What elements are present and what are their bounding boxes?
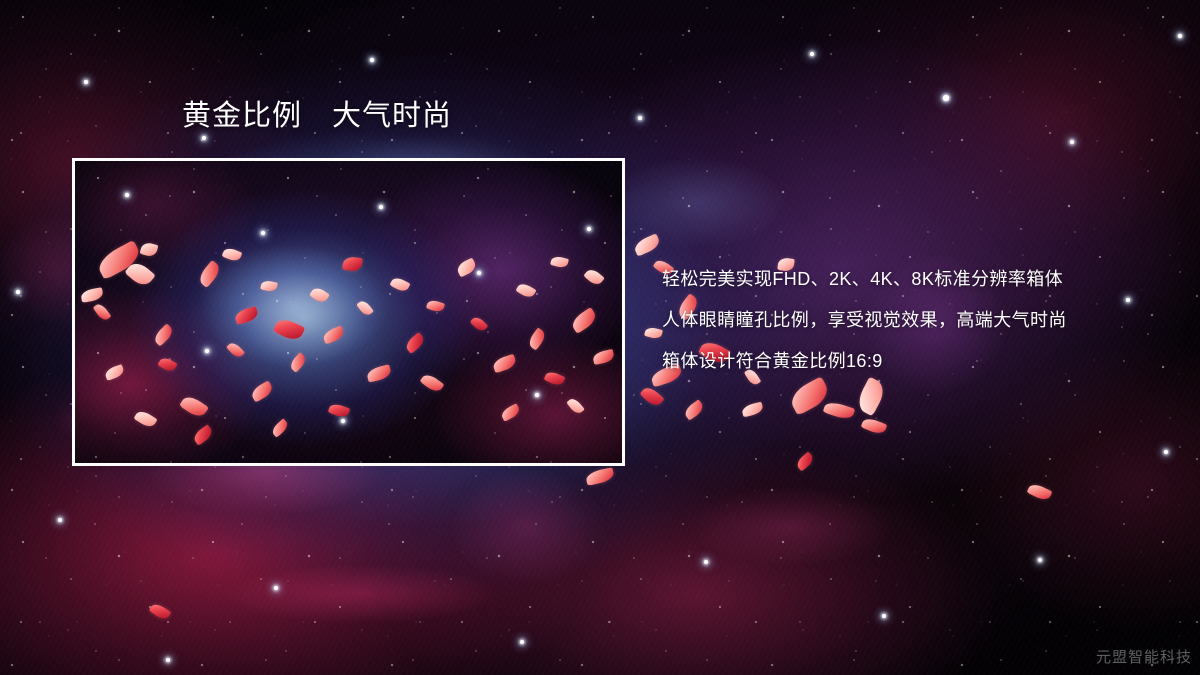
presentation-slide: 黄金比例 大气时尚 轻松完美实现FHD、2K、4K、8K标准分辨率箱体 人体眼睛… <box>0 0 1200 675</box>
bright-star <box>58 518 62 522</box>
bright-star <box>166 658 170 662</box>
petal <box>854 377 889 417</box>
bright-star <box>274 586 279 591</box>
bright-star <box>638 116 642 120</box>
framed-nebula-background <box>75 161 622 463</box>
page-title: 黄金比例 大气时尚 <box>182 101 452 133</box>
framed-image-content <box>75 161 622 463</box>
petal <box>795 452 816 472</box>
bright-star <box>1164 450 1168 454</box>
petal <box>741 402 764 418</box>
petal <box>639 384 664 408</box>
body-line-2: 人体眼睛瞳孔比例，享受视觉效果，高端大气时尚 <box>662 300 1172 341</box>
petal <box>861 416 888 436</box>
bright-star <box>1070 140 1074 144</box>
bright-star <box>370 58 374 62</box>
petal <box>823 400 856 422</box>
petal <box>1027 482 1053 503</box>
bright-star <box>520 640 524 644</box>
bright-star <box>16 290 20 294</box>
petal <box>644 326 663 340</box>
bright-star <box>1178 34 1182 38</box>
watermark: 元盟智能科技 <box>1096 646 1192 667</box>
body-line-3: 箱体设计符合黄金比例16:9 <box>662 341 1172 382</box>
bright-star <box>202 136 206 140</box>
framed-image <box>72 158 625 466</box>
bright-star <box>943 95 948 100</box>
petal <box>149 601 172 621</box>
petal <box>682 399 705 420</box>
bright-star <box>704 560 708 564</box>
bright-star <box>84 80 88 84</box>
body-line-1: 轻松完美实现FHD、2K、4K、8K标准分辨率箱体 <box>662 259 1172 300</box>
bright-star <box>810 52 814 56</box>
petal <box>585 467 615 486</box>
bright-star <box>1038 558 1043 563</box>
petal <box>787 376 833 416</box>
body-text-block: 轻松完美实现FHD、2K、4K、8K标准分辨率箱体 人体眼睛瞳孔比例，享受视觉效… <box>662 259 1172 382</box>
petal <box>632 233 661 256</box>
bright-star <box>882 614 886 618</box>
